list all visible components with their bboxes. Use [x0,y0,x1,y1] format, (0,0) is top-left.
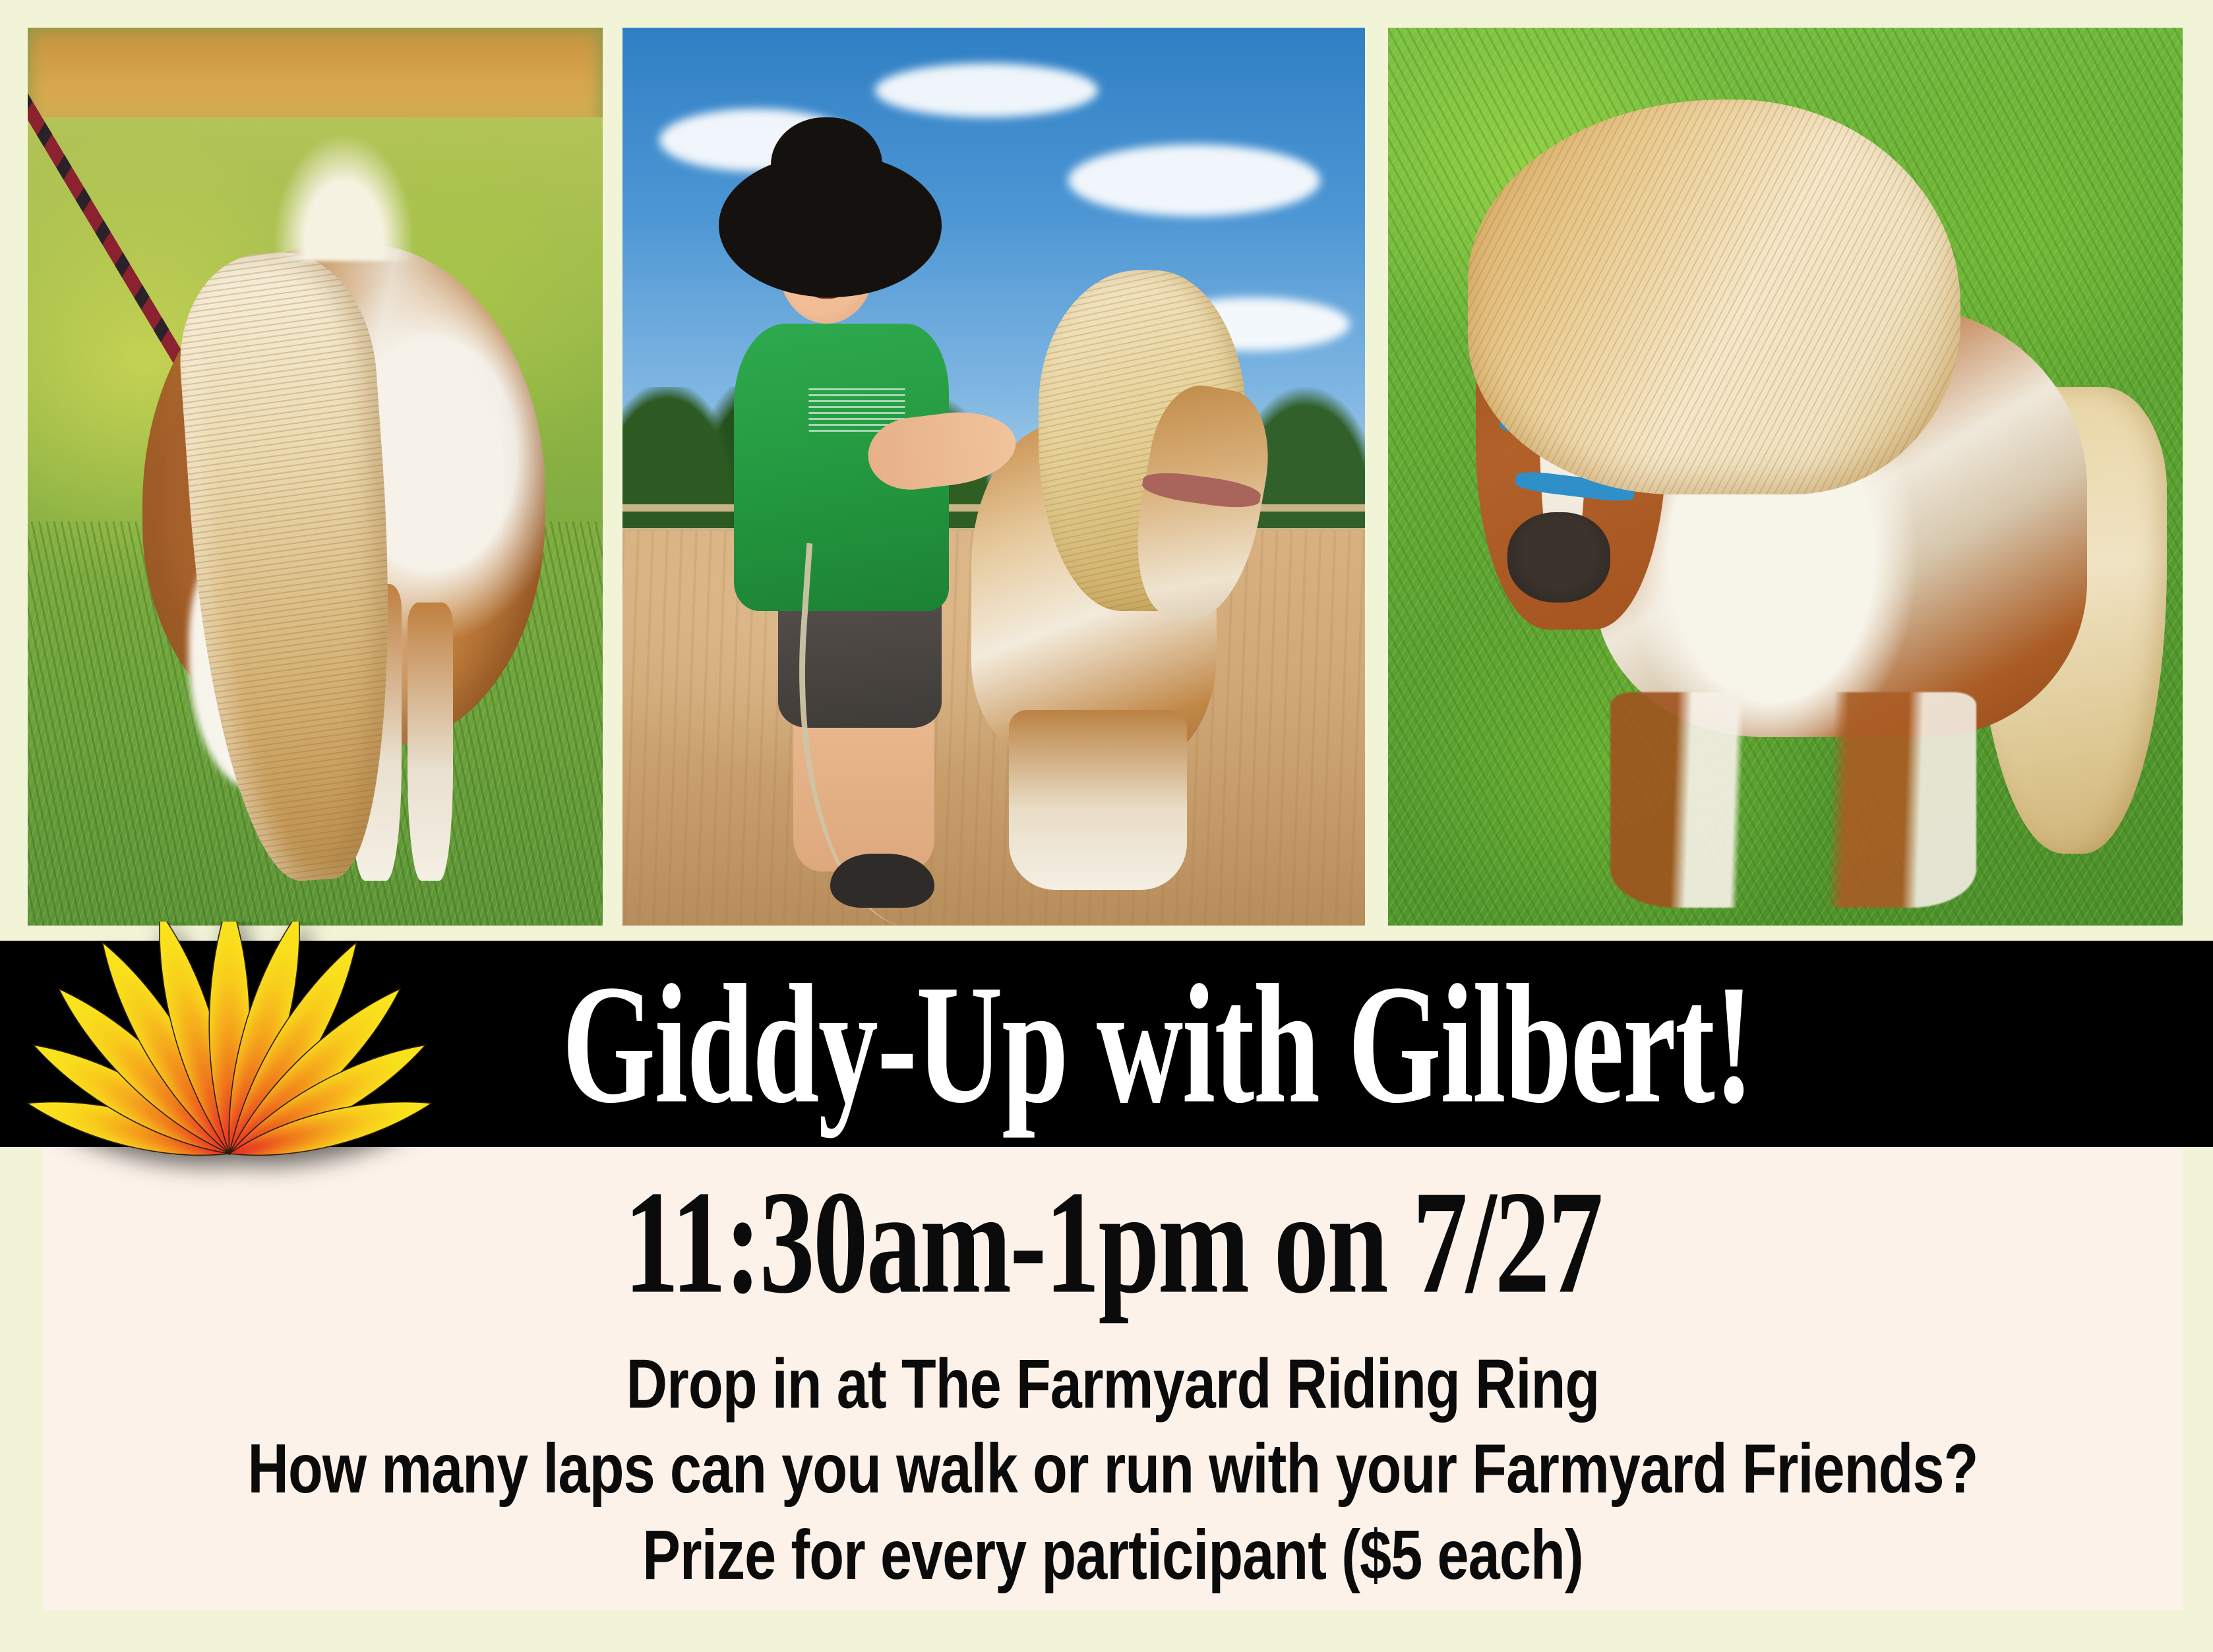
event-activity-line: How many laps can you walk or run with y… [150,1417,2076,1512]
photo2-boy-shoe [830,854,934,908]
photo-pinto-pony-in-field [1388,28,2183,926]
photo2-cloud [1068,144,1321,216]
title-banner: Giddy-Up with Gilbert! [0,941,2213,1147]
photo1-tail-tuft [275,135,413,261]
poster: Giddy-Up with Gilbert! 11:30am-1pm on 7/… [0,0,2213,1652]
event-time-date: 11:30am-1pm on 7/27 [171,1133,2055,1316]
photo-boy-leading-pony [622,28,1365,926]
photo3-pony-muzzle [1507,512,1611,602]
content-panel: 11:30am-1pm on 7/27 Drop in at The Farmy… [43,1147,2183,1610]
photo3-pony-mane [1468,100,1960,494]
photo3-pony-legs [1610,692,1976,908]
event-price-line: Prize for every participant ($5 each) [150,1503,2076,1598]
photo2-hat-crown [771,117,882,216]
photo-pony-rear-on-grass [28,28,603,926]
event-location-line: Drop in at The Farmyard Riding Ring [150,1297,2076,1427]
photo1-pony-leg-right [408,603,454,881]
photo2-pony-legs [1009,710,1187,889]
photo2-cloud [875,63,1098,117]
poster-title: Giddy-Up with Gilbert! [460,959,1753,1129]
photo-strip [28,28,2183,926]
photo3-mane-texture [1468,100,1960,494]
